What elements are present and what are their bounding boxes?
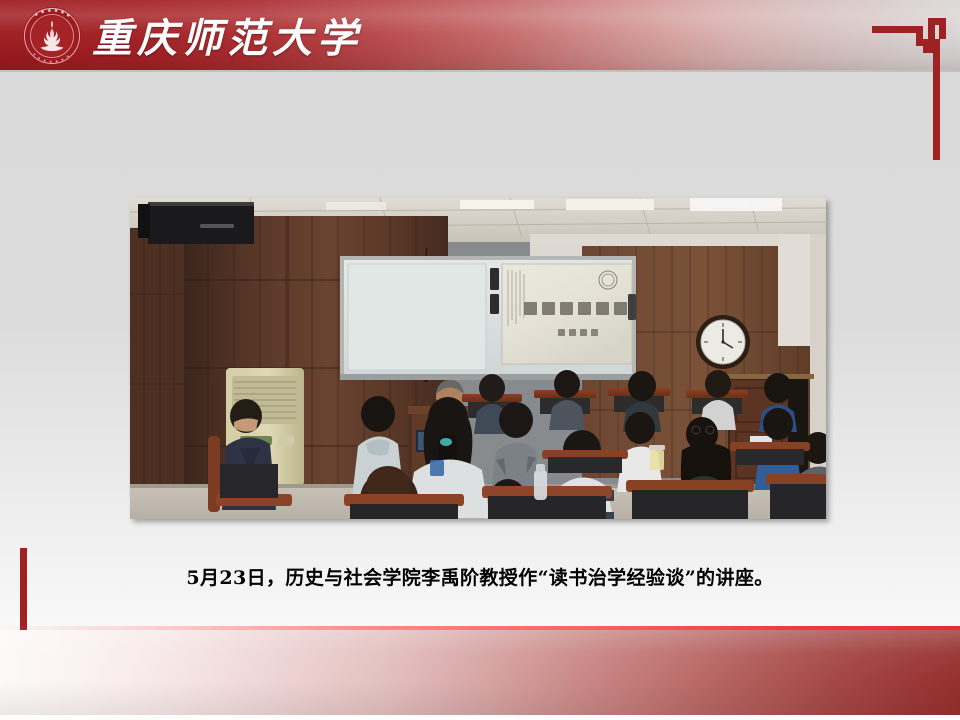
lecture-photo-image — [130, 198, 826, 519]
presentation-slide: 重庆师范大学 — [0, 0, 960, 720]
photo-caption: 5月23日，历史与社会学院李禹阶教授作“读书治学经验谈”的讲座。 — [0, 563, 960, 590]
footer-baseline — [0, 715, 960, 720]
corner-ornament-top-right-icon — [872, 0, 946, 160]
header-divider — [0, 70, 960, 72]
university-emblem-icon — [22, 6, 82, 66]
university-logo — [20, 4, 86, 68]
university-wordmark: 重庆师范大学 — [92, 6, 362, 64]
lecture-photo — [130, 198, 826, 519]
footer-gradient-band — [0, 630, 960, 716]
